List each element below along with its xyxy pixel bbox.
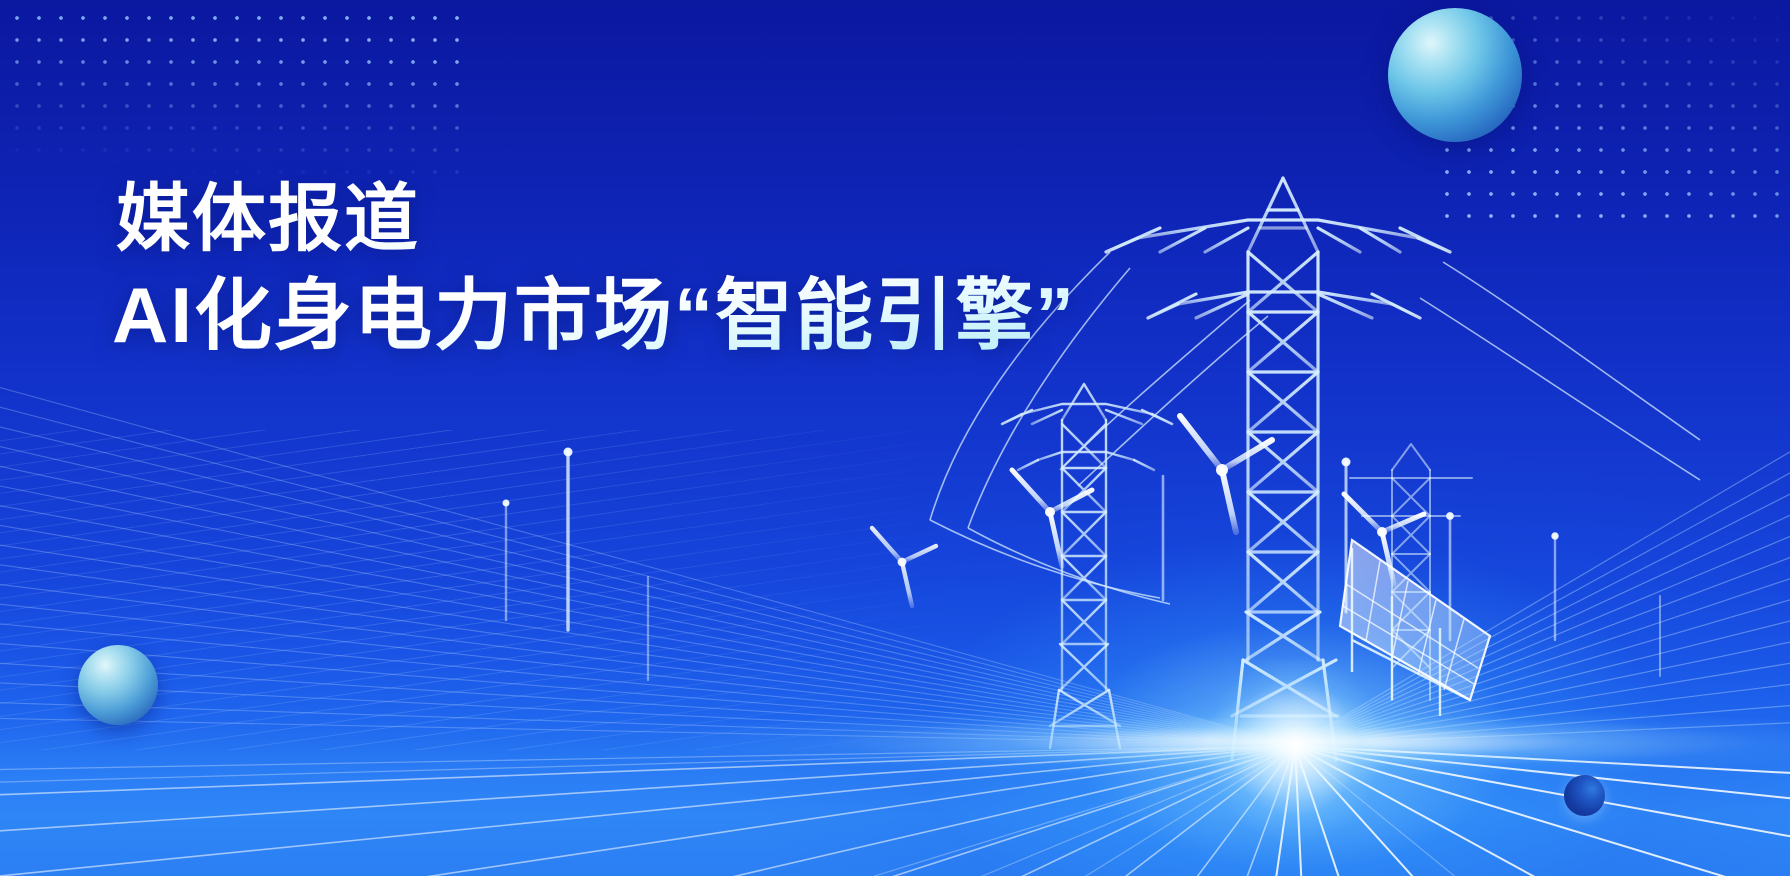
media-report-banner: 媒体报道 AI化身电力市场“智能引擎” xyxy=(0,0,1790,876)
ground-rays xyxy=(0,746,1790,876)
power-lines xyxy=(0,382,1790,745)
power-grid-scene xyxy=(0,0,1790,876)
transmission-tower-large xyxy=(1106,178,1450,760)
